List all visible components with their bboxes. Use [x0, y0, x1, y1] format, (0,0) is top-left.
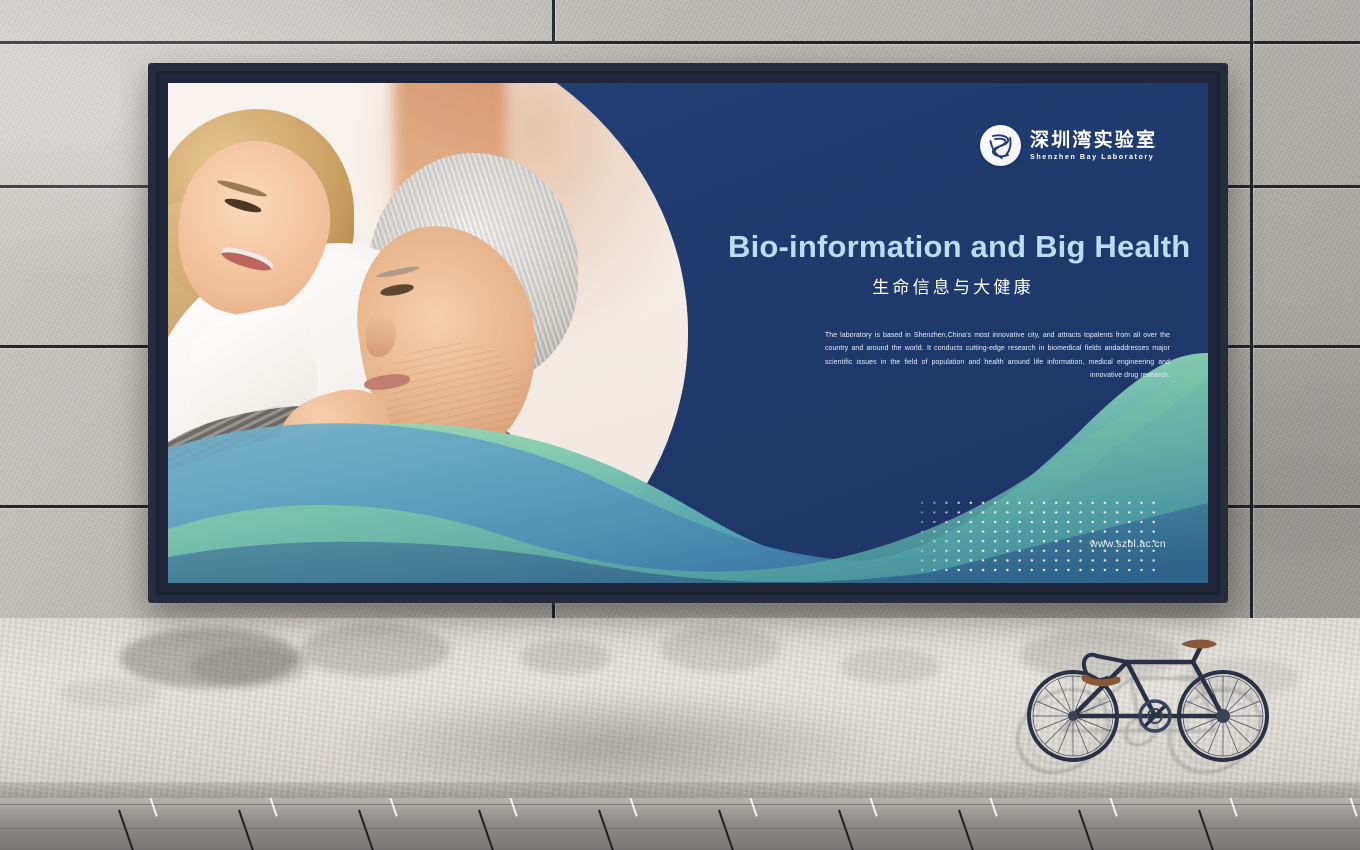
- poster-subtitle: 生命信息与大健康: [728, 273, 1178, 298]
- poster-title: Bio-information and Big Health: [728, 229, 1178, 265]
- poster-paragraph: The laboratory is based in Shenzhen,Chin…: [825, 329, 1170, 382]
- logo: 深圳湾实验室 Shenzhen Bay Laboratory: [980, 125, 1157, 166]
- shenzhen-bay-emblem-icon: [980, 125, 1021, 166]
- pavement: [0, 798, 1360, 850]
- billboard-ground-shadow: [330, 690, 890, 800]
- logo-name-en: Shenzhen Bay Laboratory: [1030, 153, 1157, 160]
- poster: 深圳湾实验室 Shenzhen Bay Laboratory Bio-infor…: [168, 83, 1208, 583]
- billboard-frame: 深圳湾实验室 Shenzhen Bay Laboratory Bio-infor…: [148, 63, 1228, 603]
- bicycle: [1015, 628, 1295, 768]
- billboard-mockup-scene: 深圳湾实验室 Shenzhen Bay Laboratory Bio-infor…: [0, 0, 1360, 850]
- poster-url: www.szbl.ac.cn: [1048, 538, 1166, 550]
- logo-name-cn: 深圳湾实验室: [1030, 131, 1157, 150]
